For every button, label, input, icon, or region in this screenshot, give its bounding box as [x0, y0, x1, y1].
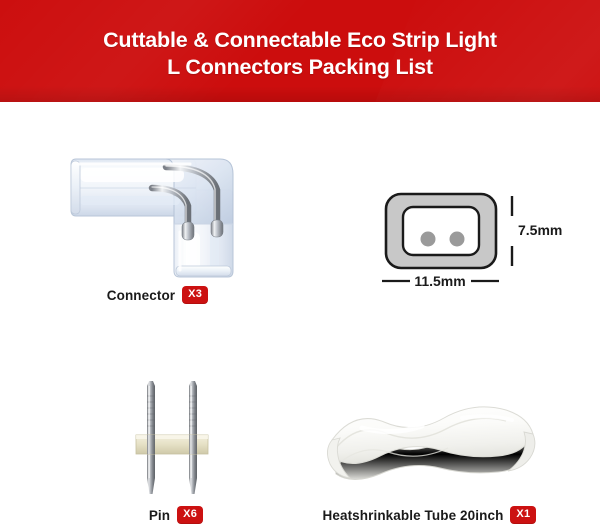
page-title: Cuttable & Connectable Eco Strip Light L…	[0, 27, 600, 81]
tube-label: Heatshrinkable Tube 20inch	[323, 508, 504, 523]
connector-caption: Connector X3	[70, 286, 245, 304]
page-title-line-1: Cuttable & Connectable Eco Strip Light	[0, 27, 600, 54]
connector-label: Connector	[107, 288, 175, 303]
tube-quantity-badge: X1	[510, 506, 536, 524]
pin-quantity-badge: X6	[177, 506, 203, 524]
strip-cross-section-icon: 7.5mm 11.5mm	[378, 186, 568, 296]
pin-pair-icon	[126, 380, 226, 498]
pin-caption: Pin X6	[126, 506, 226, 524]
l-connector-icon	[70, 128, 245, 278]
header-bottom-shade	[0, 86, 600, 102]
page-header: Cuttable & Connectable Eco Strip Light L…	[0, 0, 600, 102]
tube-caption: Heatshrinkable Tube 20inch X1	[322, 506, 537, 524]
width-dimension-label: 11.5mm	[414, 273, 465, 289]
heatshrink-tube-icon	[322, 392, 537, 497]
pin-label: Pin	[149, 508, 170, 523]
connector-quantity-badge: X3	[182, 286, 208, 304]
height-dimension-label: 7.5mm	[518, 222, 562, 238]
page-title-line-2: L Connectors Packing List	[0, 54, 600, 81]
